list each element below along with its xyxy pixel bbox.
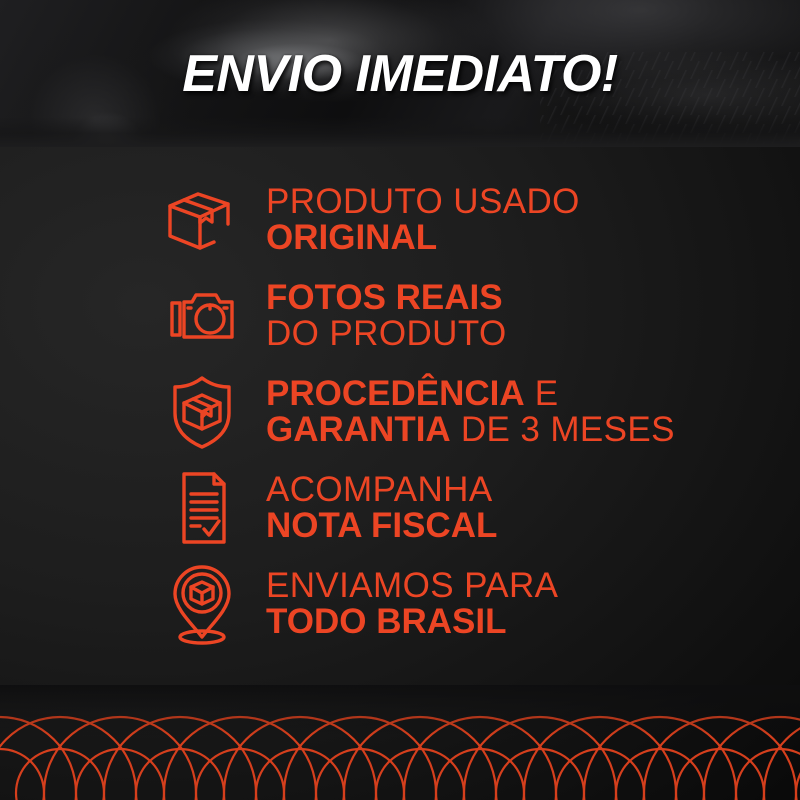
feature-line-1: ACOMPANHA [266,472,497,508]
feature-text-segment: PROCEDÊNCIA [266,374,525,413]
page-title: ENVIO IMEDIATO! [0,44,800,104]
feature-text: PRODUTO USADO ORIGINAL [266,184,580,257]
shield-box-icon [160,371,244,453]
invoice-document-check-icon [160,467,244,549]
feature-line-1: PROCEDÊNCIA E [266,376,675,412]
feature-text-segment: DO PRODUTO [266,314,507,353]
feature-text-segment: TODO BRASIL [266,602,506,641]
feature-line-2: DO PRODUTO [266,316,507,352]
feature-text-segment: GARANTIA [266,410,451,449]
feature-text: ENVIAMOS PARA TODO BRASIL [266,568,558,641]
feature-line-2: NOTA FISCAL [266,508,497,544]
feature-text-segment: ENVIAMOS PARA [266,566,558,605]
list-item: PRODUTO USADO ORIGINAL [160,175,800,265]
list-item: ACOMPANHA NOTA FISCAL [160,463,800,553]
feature-line-1: ENVIAMOS PARA [266,568,558,604]
feature-text: FOTOS REAIS DO PRODUTO [266,280,507,353]
feature-text-segment: PRODUTO USADO [266,182,580,221]
list-item: PROCEDÊNCIA E GARANTIA DE 3 MESES [160,367,800,457]
feature-line-1: FOTOS REAIS [266,280,507,316]
feature-line-2: TODO BRASIL [266,604,558,640]
banner-header: ENVIO IMEDIATO! [0,0,800,147]
photo-bottom-fade [0,117,800,147]
feature-text: ACOMPANHA NOTA FISCAL [266,472,497,545]
feature-line-2: GARANTIA DE 3 MESES [266,412,675,448]
feature-text-segment: DE 3 MESES [451,410,675,449]
feature-text-segment: E [525,374,559,413]
camera-icon [160,275,244,357]
list-item: FOTOS REAIS DO PRODUTO [160,271,800,361]
footer-pattern [0,685,800,800]
feature-line-2: ORIGINAL [266,220,580,256]
feature-line-1: PRODUTO USADO [266,184,580,220]
feature-list: PRODUTO USADO ORIGINAL [0,175,800,649]
feature-text-segment: NOTA FISCAL [266,506,497,545]
package-box-check-icon [160,179,244,261]
feature-text: PROCEDÊNCIA E GARANTIA DE 3 MESES [266,376,675,449]
feature-text-segment: ACOMPANHA [266,470,493,509]
feature-text-segment: FOTOS REAIS [266,278,503,317]
overlapping-circles-lattice-icon [0,685,800,800]
location-pin-box-icon [160,563,244,645]
feature-text-segment: ORIGINAL [266,218,437,257]
list-item: ENVIAMOS PARA TODO BRASIL [160,559,800,649]
promo-banner: ENVIO IMEDIATO! PRODUTO USADO ORIGINAL [0,0,800,800]
